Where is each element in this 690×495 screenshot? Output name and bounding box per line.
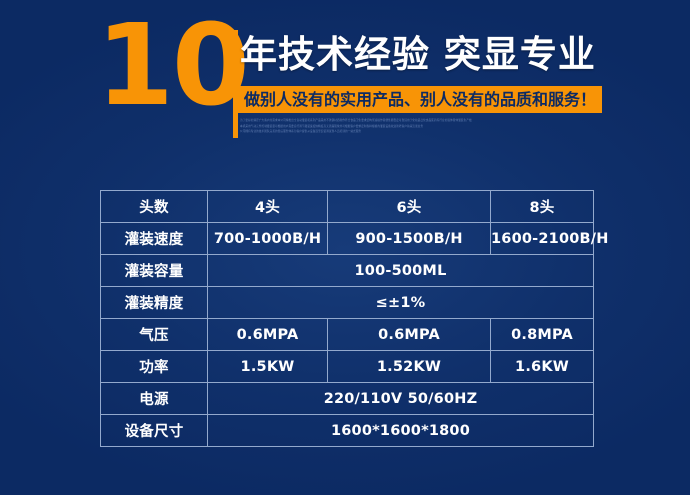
row-label: 功率: [101, 351, 208, 383]
row-label: 设备尺寸: [101, 415, 208, 447]
table-row: 灌装容量 100-500ML: [101, 255, 594, 287]
product-spec-poster: 10 年技术经验 突显专业 做别人没有的实用产品、别人没有的品质和服务！ 为了更…: [0, 0, 690, 495]
row-value: 8头: [491, 191, 594, 223]
years-number: 10: [96, 12, 244, 120]
table-row: 灌装精度 ≤±1%: [101, 287, 594, 319]
table-row: 气压 0.6MPA 0.6MPA 0.8MPA: [101, 319, 594, 351]
row-value-merged: 100-500ML: [208, 255, 594, 287]
row-value: 1.52KW: [328, 351, 491, 383]
row-value: 0.6MPA: [208, 319, 328, 351]
row-value: 1.5KW: [208, 351, 328, 383]
row-value-merged: 1600*1600*1800: [208, 415, 594, 447]
table-row: 电源 220/110V 50/60HZ: [101, 383, 594, 415]
row-value: 1600-2100B/H: [491, 223, 594, 255]
row-value-merged: 220/110V 50/60HZ: [208, 383, 594, 415]
orange-accent-bar: [233, 30, 238, 138]
row-label: 灌装精度: [101, 287, 208, 319]
headline-text: 年技术经验 突显专业: [240, 27, 606, 83]
row-label: 灌装速度: [101, 223, 208, 255]
table-row: 设备尺寸 1600*1600*1800: [101, 415, 594, 447]
row-value: 0.8MPA: [491, 319, 594, 351]
row-label: 电源: [101, 383, 208, 415]
subbanner-text: 做别人没有的实用产品、别人没有的品质和服务！: [238, 86, 602, 113]
row-value: 900-1500B/H: [328, 223, 491, 255]
table-row: 灌装速度 700-1000B/H 900-1500B/H 1600-2100B/…: [101, 223, 594, 255]
fine-print-line: 公司拥有专业的技术团队完善的售后服务体系为客户提供从设备选型安装调试到人员培训的…: [240, 129, 464, 135]
table-row: 头数 4头 6头 8头: [101, 191, 594, 223]
row-label: 头数: [101, 191, 208, 223]
row-value: 700-1000B/H: [208, 223, 328, 255]
poster-header: 10 年技术经验 突显专业 做别人没有的实用产品、别人没有的品质和服务！ 为了更…: [0, 0, 690, 160]
specification-table: 头数 4头 6头 8头 灌装速度 700-1000B/H 900-1500B/H…: [100, 190, 594, 447]
row-value: 6头: [328, 191, 491, 223]
row-value-merged: ≤±1%: [208, 287, 594, 319]
row-label: 气压: [101, 319, 208, 351]
table-row: 功率 1.5KW 1.52KW 1.6KW: [101, 351, 594, 383]
row-label: 灌装容量: [101, 255, 208, 287]
row-value: 4头: [208, 191, 328, 223]
row-value: 1.6KW: [491, 351, 594, 383]
row-value: 0.6MPA: [328, 319, 491, 351]
fine-print-block: 为了更好的满足广大客户的需求本公司特推出全自动灌装机系列产品采用不锈钢材质制作符…: [240, 118, 602, 140]
